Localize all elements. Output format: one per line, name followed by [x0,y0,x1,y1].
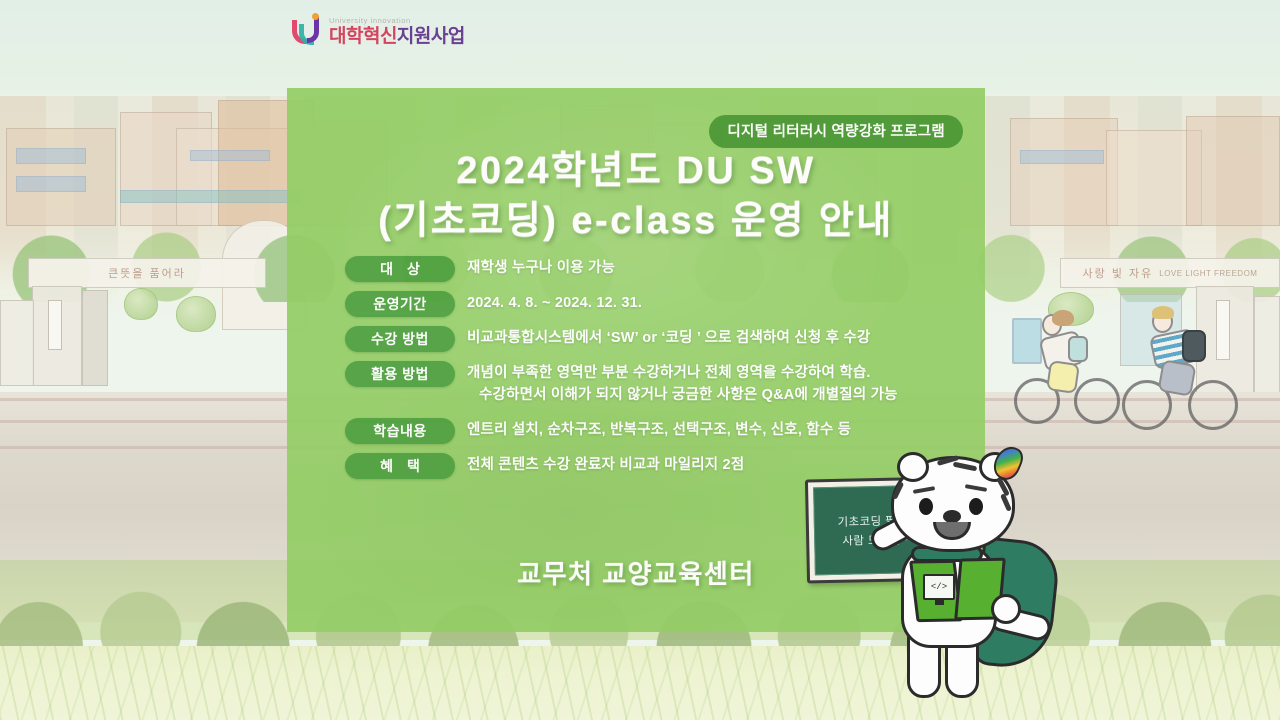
mascot-ear [897,452,929,482]
u-monogram-icon [292,14,322,46]
cyclist-hair [1052,310,1074,326]
info-label-howto: 수강 방법 [345,326,455,352]
cyclist-legs [1157,359,1196,396]
info-value-usage: 개념이 부족한 영역만 부분 수강하거나 전체 영역을 수강하여 학습. 수강하… [467,361,898,407]
info-label-usage: 활용 방법 [345,361,455,387]
mascot-eye [919,498,933,515]
poster-canvas: 큰뜻을 품어라 사랑 빛 자유 LOVE LIGHT FREEDOM [0,0,1280,720]
building-window [120,190,300,203]
program-category-badge: 디지털 리터러시 역량강화 프로그램 [709,115,963,148]
info-value-howto: 비교과통합시스템에서 ‘SW’ or ‘코딩 ’ 으로 검색하여 신청 후 수강 [467,326,870,350]
info-value-line1: 개념이 부족한 영역만 부분 수강하거나 전체 영역을 수강하여 학습. [467,365,871,381]
right-gate-sign-en: LOVE LIGHT FREEDOM [1159,269,1257,278]
info-row: 수강 방법 비교과통합시스템에서 ‘SW’ or ‘코딩 ’ 으로 검색하여 신… [345,326,965,352]
campus-tree [176,296,216,332]
cyclist-hair [1152,306,1174,319]
right-gate-sign-text: 사랑 빛 자유 [1083,265,1154,281]
info-value-line1: 전체 콘텐츠 수강 완료자 비교과 마일리지 2점 [467,457,744,473]
logo-korean-part1: 대학혁신 [329,26,397,47]
title-line-2: (기초코딩) e-class 운영 안내 [287,196,985,246]
info-label-target: 대상 [345,256,455,282]
university-innovation-logo: University innovation 대학혁신지원사업 [292,14,465,46]
info-label-benefit: 혜택 [345,453,455,479]
campus-tree [124,288,158,320]
info-value-target: 재학생 누구나 이용 가능 [467,256,615,280]
left-gate-pillar-inner [82,290,108,386]
cyclist-backpack [1182,330,1206,362]
bicycle-wheel [1074,378,1120,424]
logo-text-block: University innovation 대학혁신지원사업 [329,17,465,47]
left-gate-wall [0,300,34,386]
left-gate-plate [48,300,62,350]
left-gate-beam: 큰뜻을 품어라 [28,258,266,288]
cyclist-figure [1012,300,1132,436]
mascot-eye [969,498,983,515]
grass-foreground [0,646,1280,720]
cyclist-legs [1046,360,1080,394]
info-row: 학습내용 엔트리 설치, 순차구조, 반복구조, 선택구조, 변수, 신호, 함… [345,418,965,444]
cyclist-backpack [1068,336,1088,362]
info-value-period: 2024. 4. 8. ~ 2024. 12. 31. [467,291,642,315]
info-row: 활용 방법 개념이 부족한 영역만 부분 수강하거나 전체 영역을 수강하여 학… [345,361,965,407]
building-window [16,176,86,192]
right-gate-wall [1254,296,1280,398]
info-value-line1: 2024. 4. 8. ~ 2024. 12. 31. [467,295,642,311]
cyclist-figure [1118,296,1246,438]
building-window [16,148,86,164]
monitor-stand [935,600,944,605]
building-window [190,150,270,161]
bicycle-wheel [1188,380,1238,430]
info-label-content: 학습내용 [345,418,455,444]
left-gate-sign-text: 큰뜻을 품어라 [108,265,186,281]
info-row: 대상 재학생 누구나 이용 가능 [345,256,965,282]
info-value-benefit: 전체 콘텐츠 수강 완료자 비교과 마일리지 2점 [467,453,744,477]
mascot-paw [991,594,1021,624]
info-value-line1: 재학생 누구나 이용 가능 [467,260,615,276]
title-line-1: 2024학년도 DU SW [287,146,985,196]
poster-title: 2024학년도 DU SW (기초코딩) e-class 운영 안내 [287,146,985,246]
info-row: 운영기간 2024. 4. 8. ~ 2024. 12. 31. [345,291,965,317]
logo-korean-part2: 지원사업 [397,26,465,47]
campus-building [1186,116,1280,226]
logo-english-text: University innovation [329,17,465,25]
right-gate-beam: 사랑 빛 자유 LOVE LIGHT FREEDOM [1060,258,1280,288]
info-value-line1: 비교과통합시스템에서 ‘SW’ or ‘코딩 ’ 으로 검색하여 신청 후 수강 [467,330,870,346]
info-row: 혜택 전체 콘텐츠 수강 완료자 비교과 마일리지 2점 [345,453,965,479]
info-value-line2: 수강하면서 이해가 되지 않거나 궁금한 사항은 Q&A에 개별질의 가능 [479,385,898,407]
white-tiger-mascot: </> [885,448,1085,714]
building-window [1020,150,1104,164]
info-value-content: 엔트리 설치, 순차구조, 반복구조, 선택구조, 변수, 신호, 함수 등 [467,418,851,442]
campus-building [1010,118,1118,226]
info-table: 대상 재학생 누구나 이용 가능 운영기간 2024. 4. 8. ~ 2024… [345,256,965,488]
logo-korean-text: 대학혁신지원사업 [329,27,465,46]
code-monitor-icon: </> [923,574,955,600]
info-label-period: 운영기간 [345,291,455,317]
info-value-line1: 엔트리 설치, 순차구조, 반복구조, 선택구조, 변수, 신호, 함수 등 [467,422,851,438]
